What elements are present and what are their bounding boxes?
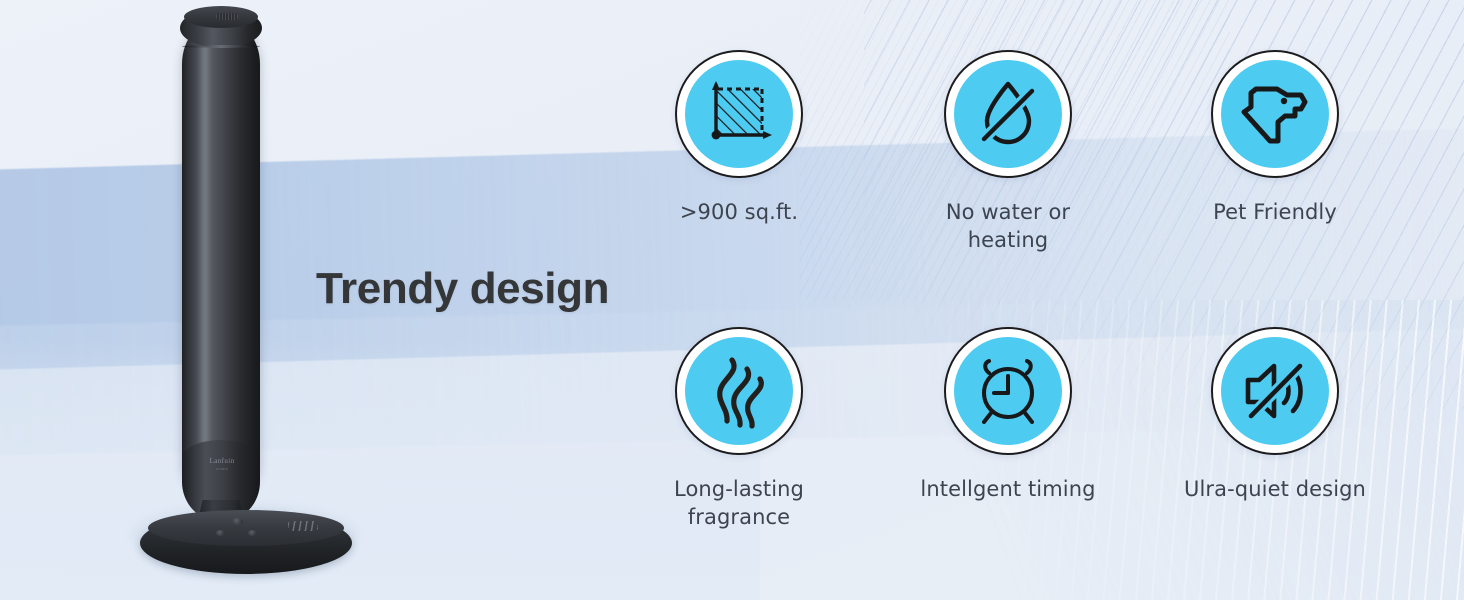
- feature-icon-ring: [944, 50, 1072, 178]
- page-title: Trendy design: [316, 264, 609, 314]
- feature-icon-ring: [675, 50, 803, 178]
- feature-item-area-coverage: >900 sq.ft.: [624, 50, 854, 226]
- no-water-drop-icon: [954, 60, 1062, 168]
- feature-label: Ulra-quiet design: [1184, 475, 1366, 503]
- product-brand-name: Lanfuin: [210, 457, 235, 465]
- product-tower-body: [182, 18, 260, 496]
- feature-item-ultra-quiet: Ulra-quiet design: [1160, 327, 1390, 503]
- product-control-button-power: [232, 518, 243, 525]
- product-control-button-timer: [248, 530, 257, 536]
- feature-item-intelligent-timing: lntellgent timing: [893, 327, 1123, 503]
- feature-grid: >900 sq.ft. No water or heating: [610, 40, 1410, 580]
- product-brand-subtitle: aroma: [216, 466, 228, 471]
- feature-icon-ring: [944, 327, 1072, 455]
- feature-item-long-lasting-fragrance: Long-lasting fragrance: [624, 327, 854, 531]
- feature-icon-ring: [1211, 50, 1339, 178]
- alarm-clock-icon: [954, 337, 1062, 445]
- feature-label: Long-lasting fragrance: [674, 475, 804, 531]
- muted-speaker-icon: [1221, 337, 1329, 445]
- feature-icon-ring: [1211, 327, 1339, 455]
- feature-item-pet-friendly: Pet Friendly: [1160, 50, 1390, 226]
- product-cap-seam: [182, 45, 260, 48]
- feature-label: >900 sq.ft.: [680, 198, 798, 226]
- product-highlight: [198, 40, 212, 460]
- feature-label: No water or heating: [946, 198, 1070, 254]
- feature-label: Pet Friendly: [1213, 198, 1337, 226]
- feature-item-no-water: No water or heating: [893, 50, 1123, 254]
- product-cap-vent: [216, 13, 238, 20]
- feature-icon-ring: [675, 327, 803, 455]
- product-base-markings: [288, 521, 318, 531]
- feature-label: lntellgent timing: [920, 475, 1095, 503]
- product-feature-banner: Lanfuin aroma Trendy design: [0, 0, 1464, 600]
- product-brand-logo: Lanfuin aroma: [198, 456, 246, 472]
- fragrance-waves-icon: [685, 337, 793, 445]
- product-control-button-mode: [216, 530, 225, 536]
- area-coverage-icon: [685, 60, 793, 168]
- dog-head-icon: [1221, 60, 1329, 168]
